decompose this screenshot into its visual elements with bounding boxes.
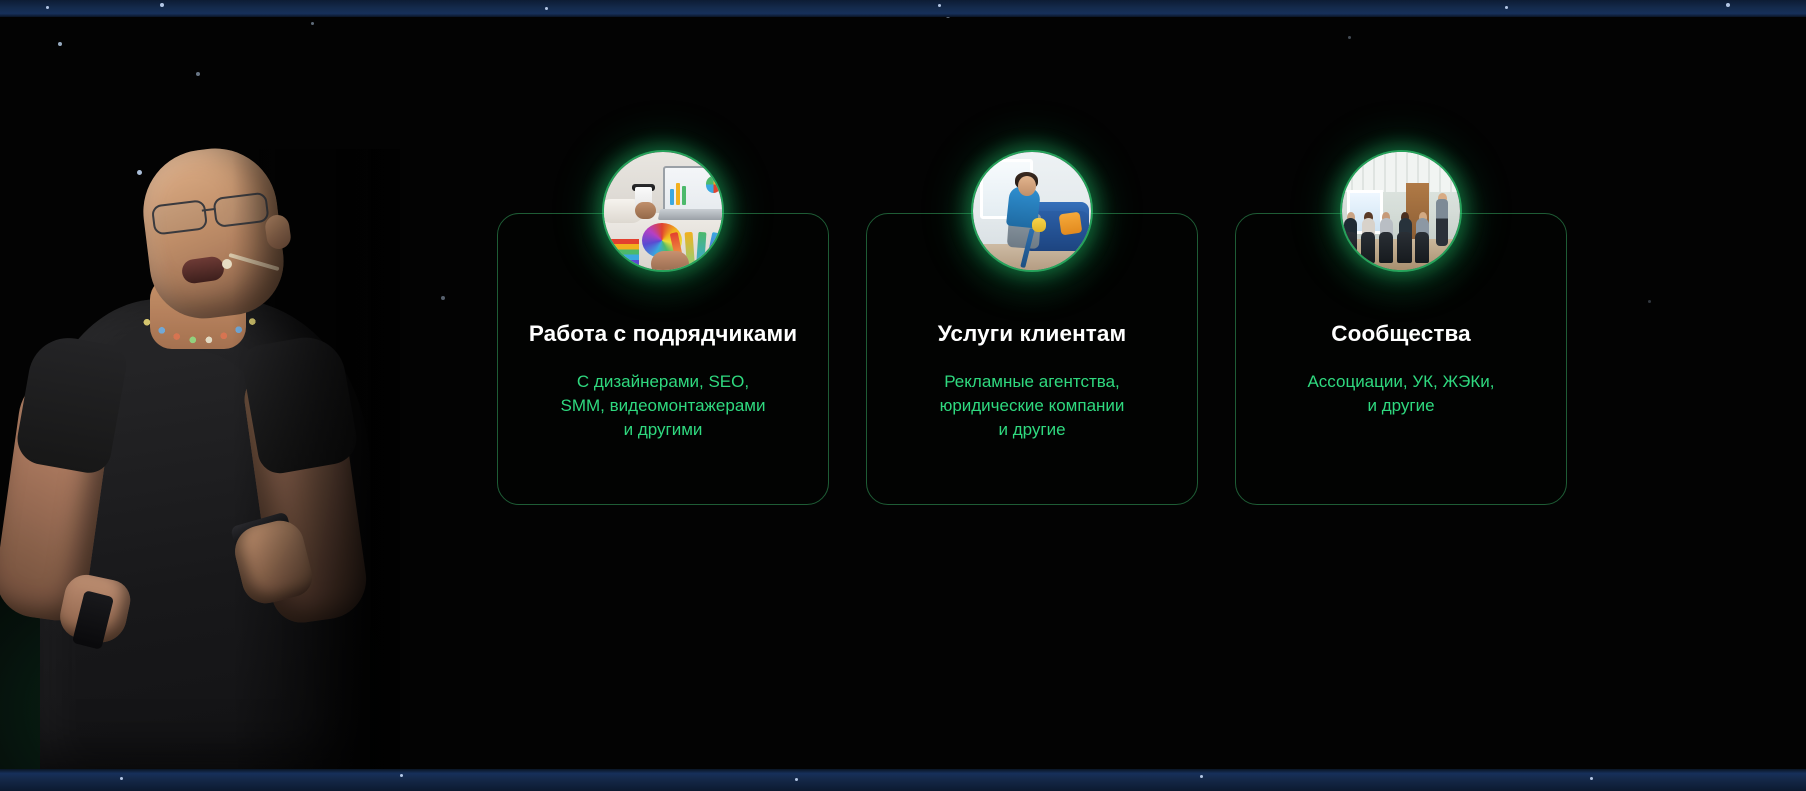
slide-stage: Работа с подрядчиками С дизайнерами, SEO…: [0, 0, 1806, 791]
card-title: Услуги клиентам: [881, 320, 1183, 348]
design-contractor-photo-icon: [604, 152, 722, 270]
card-subtitle-line: С дизайнерами, SEO,: [512, 370, 814, 394]
communities-photo-icon: [1342, 152, 1460, 270]
speaker-photo: [0, 149, 400, 769]
card-subtitle-line: Ассоциации, УК, ЖЭКи,: [1250, 370, 1552, 394]
card-subtitle: С дизайнерами, SEO, SMM, видеомонтажерам…: [512, 370, 814, 442]
card-subtitle: Рекламные агентства, юридические компани…: [881, 370, 1183, 442]
card-subtitle-line: и другие: [1250, 394, 1552, 418]
top-accent-band: [0, 0, 1806, 17]
card-subtitle-line: юридические компании: [881, 394, 1183, 418]
card-title: Сообщества: [1250, 320, 1552, 348]
card-subtitle-line: и другие: [881, 418, 1183, 442]
bottom-accent-band: [0, 769, 1806, 791]
card-title: Работа с подрядчиками: [512, 320, 814, 348]
card-subtitle: Ассоциации, УК, ЖЭКи, и другие: [1250, 370, 1552, 418]
cards-row: Работа с подрядчиками С дизайнерами, SEO…: [497, 213, 1567, 505]
card-communities[interactable]: Сообщества Ассоциации, УК, ЖЭКи, и други…: [1235, 213, 1567, 505]
client-services-photo-icon: [973, 152, 1091, 270]
card-subtitle-line: и другими: [512, 418, 814, 442]
card-contractors[interactable]: Работа с подрядчиками С дизайнерами, SEO…: [497, 213, 829, 505]
card-subtitle-line: Рекламные агентства,: [881, 370, 1183, 394]
card-client-services[interactable]: Услуги клиентам Рекламные агентства, юри…: [866, 213, 1198, 505]
card-subtitle-line: SMM, видеомонтажерами: [512, 394, 814, 418]
